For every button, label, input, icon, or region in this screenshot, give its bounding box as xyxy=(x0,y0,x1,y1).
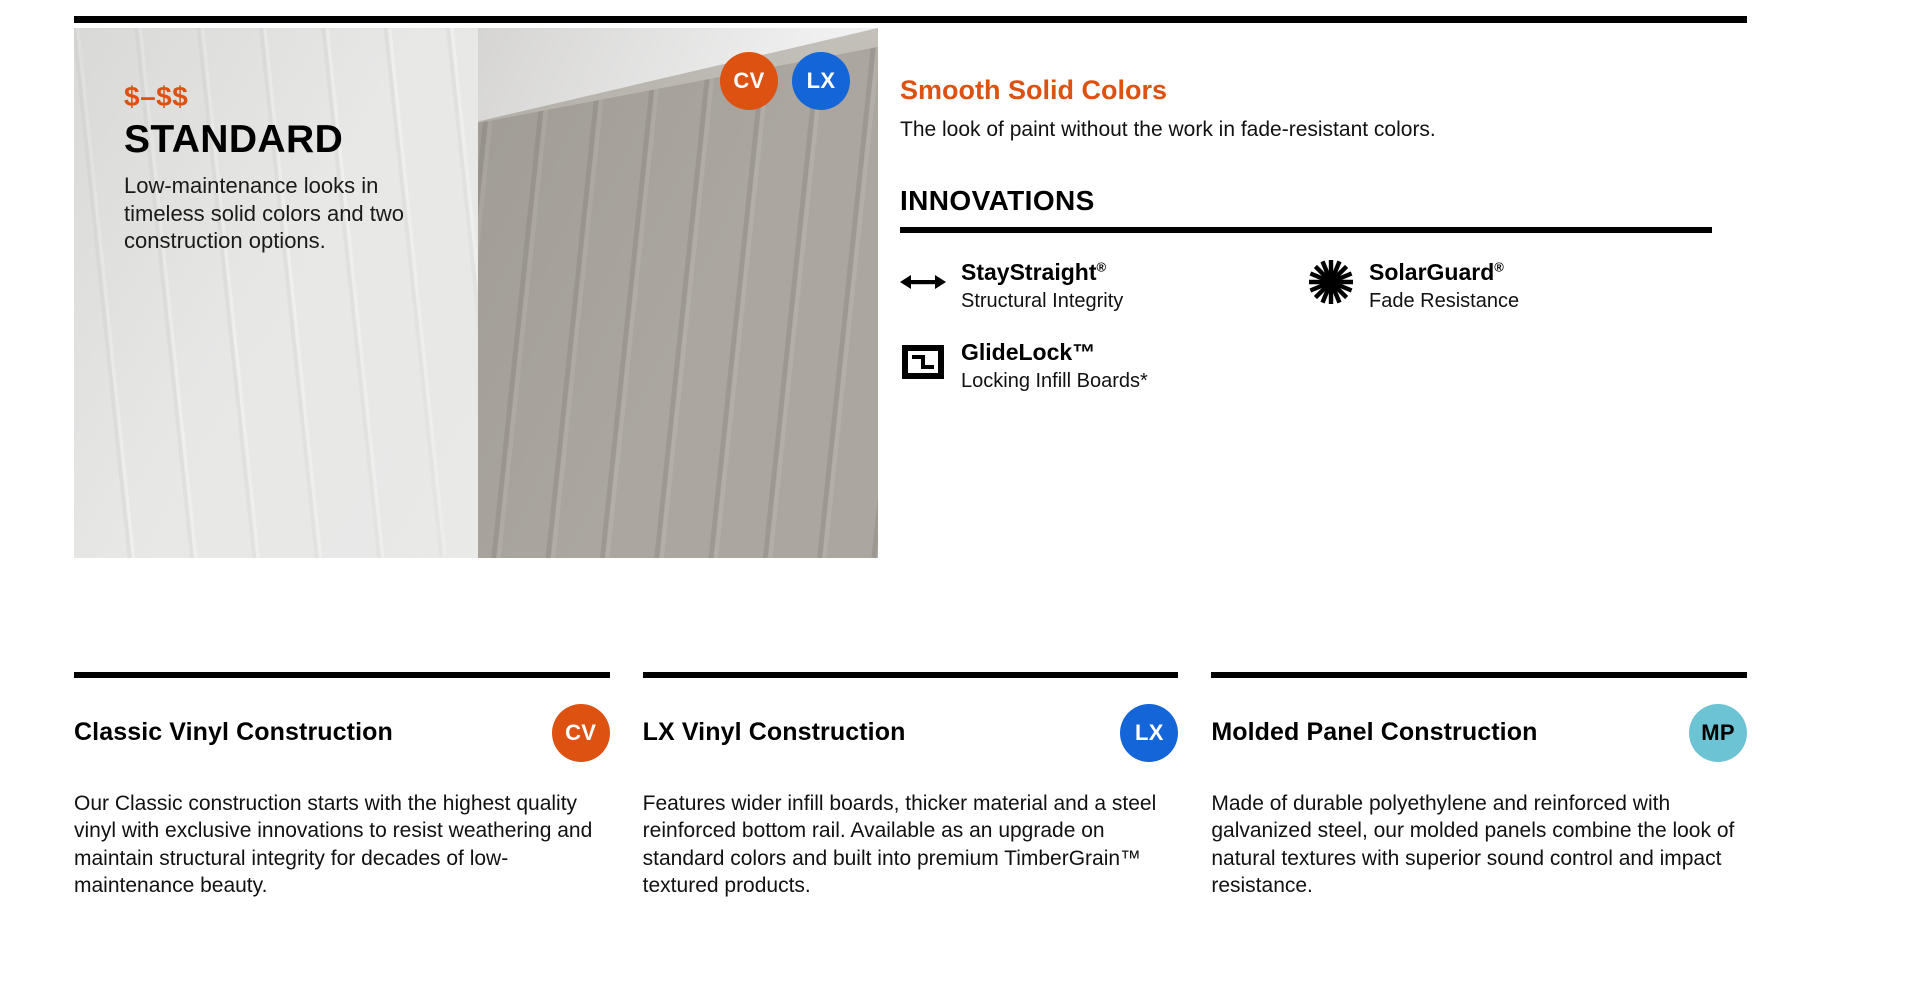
innovations-divider xyxy=(900,227,1712,233)
column-title: Classic Vinyl Construction xyxy=(74,719,393,747)
hero-title: STANDARD xyxy=(124,120,434,159)
innovations-heading: INNOVATIONS xyxy=(900,187,1720,215)
column-body-text: Our Classic construction starts with the… xyxy=(74,790,610,899)
registered-mark: ® xyxy=(1494,259,1504,274)
detail-title: Smooth Solid Colors xyxy=(900,76,1720,106)
column-body-text: Features wider infill boards, thicker ma… xyxy=(643,790,1179,899)
starburst-icon xyxy=(1308,259,1354,305)
lx-vinyl-badge[interactable]: LX xyxy=(792,52,850,110)
column-divider xyxy=(74,672,610,678)
lx-vinyl-badge[interactable]: LX xyxy=(1120,704,1178,762)
registered-mark: ® xyxy=(1096,259,1106,274)
classic-vinyl-badge[interactable]: CV xyxy=(720,52,778,110)
innovation-text: SolarGuard® Fade Resistance xyxy=(1369,259,1519,313)
hero-image: $–$$ STANDARD Low-maintenance looks in t… xyxy=(74,28,878,558)
interlock-icon xyxy=(900,339,946,385)
innovation-text: GlideLock™ Locking Infill Boards* xyxy=(961,339,1148,393)
innovation-item: GlideLock™ Locking Infill Boards* xyxy=(900,339,1308,393)
column-header: Molded Panel Construction MP xyxy=(1211,704,1747,762)
innovations-grid: StayStraight® Structural Integrity xyxy=(900,259,1720,393)
column-title: LX Vinyl Construction xyxy=(643,719,906,747)
construction-column-lx-vinyl: LX Vinyl Construction LX Features wider … xyxy=(643,672,1179,899)
innovation-caption: Fade Resistance xyxy=(1369,289,1519,313)
innovation-text: StayStraight® Structural Integrity xyxy=(961,259,1123,313)
innovation-name: GlideLock™ xyxy=(961,339,1095,365)
molded-panel-badge[interactable]: MP xyxy=(1689,704,1747,762)
price-tier-label: $–$$ xyxy=(124,83,434,111)
column-header: LX Vinyl Construction LX xyxy=(643,704,1179,762)
innovation-caption: Structural Integrity xyxy=(961,289,1123,313)
top-divider xyxy=(74,16,1747,23)
column-title: Molded Panel Construction xyxy=(1211,719,1537,747)
innovation-item: StayStraight® Structural Integrity xyxy=(900,259,1308,313)
construction-columns: Classic Vinyl Construction CV Our Classi… xyxy=(74,672,1747,899)
hero-copy-block: $–$$ STANDARD Low-maintenance looks in t… xyxy=(124,83,434,255)
classic-vinyl-badge[interactable]: CV xyxy=(552,704,610,762)
column-divider xyxy=(643,672,1179,678)
hero-description: Low-maintenance looks in timeless solid … xyxy=(124,172,434,255)
detail-column: Smooth Solid Colors The look of paint wi… xyxy=(900,76,1720,393)
hero-badge-group: CV LX xyxy=(720,52,850,110)
construction-column-classic-vinyl: Classic Vinyl Construction CV Our Classi… xyxy=(74,672,610,899)
construction-column-molded-panel: Molded Panel Construction MP Made of dur… xyxy=(1211,672,1747,899)
column-body-text: Made of durable polyethylene and reinfor… xyxy=(1211,790,1747,899)
column-divider xyxy=(1211,672,1747,678)
innovation-item: SolarGuard® Fade Resistance xyxy=(1308,259,1716,313)
innovation-caption: Locking Infill Boards* xyxy=(961,369,1148,393)
innovation-name: StayStraight® xyxy=(961,259,1106,285)
detail-subtitle: The look of paint without the work in fa… xyxy=(900,116,1720,143)
double-arrow-icon xyxy=(900,259,946,305)
innovation-name: SolarGuard® xyxy=(1369,259,1504,285)
column-header: Classic Vinyl Construction CV xyxy=(74,704,610,762)
product-tier-panel: $–$$ STANDARD Low-maintenance looks in t… xyxy=(0,0,1920,986)
